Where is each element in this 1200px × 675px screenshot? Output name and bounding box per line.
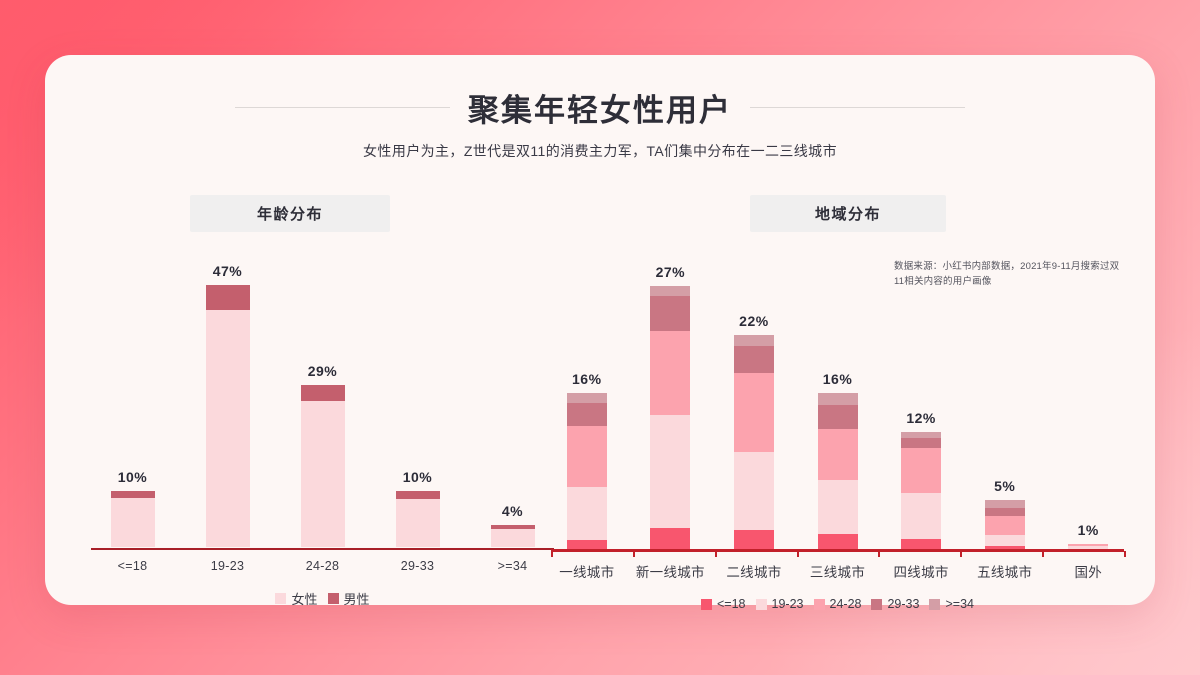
- bar-value-label: 5%: [994, 478, 1015, 494]
- stacked-bar[interactable]: [985, 500, 1025, 549]
- bar-slot: 47%: [180, 250, 275, 547]
- bar-segment-男性[interactable]: [111, 491, 155, 498]
- bar-segment-19-23[interactable]: [818, 480, 858, 535]
- region-bars: 16%27%22%16%12%5%1%: [545, 250, 1130, 549]
- bar-segment-19-23[interactable]: [650, 415, 690, 528]
- legend-label: 24-28: [830, 597, 862, 611]
- legend-swatch-icon: [328, 593, 339, 604]
- legend-item[interactable]: >=34: [929, 597, 974, 611]
- bar-segment-24-28[interactable]: [818, 429, 858, 480]
- bar-slot: 22%: [712, 250, 796, 549]
- bar-segment-19-23[interactable]: [567, 487, 607, 541]
- axis-tick: [878, 551, 880, 557]
- bar-value-label: 4%: [502, 503, 523, 519]
- x-axis-label: 二线城市: [712, 561, 796, 581]
- legend-label: 29-33: [887, 597, 919, 611]
- legend-item[interactable]: 男性: [328, 589, 370, 608]
- bar-value-label: 10%: [403, 469, 433, 485]
- legend-item[interactable]: 29-33: [871, 597, 919, 611]
- bar-value-label: 1%: [1078, 522, 1099, 538]
- legend-label: 女性: [291, 589, 317, 608]
- x-axis-label: 五线城市: [963, 561, 1047, 581]
- bar-value-label: 29%: [308, 363, 338, 379]
- legend-swatch-icon: [756, 599, 767, 610]
- age-legend: 女性男性: [85, 589, 560, 608]
- region-x-axis-labels: 一线城市新一线城市二线城市三线城市四线城市五线城市国外: [545, 561, 1130, 581]
- page-title: 聚集年轻女性用户: [468, 85, 732, 130]
- age-bars: 10%47%29%10%4%: [85, 250, 560, 547]
- x-axis-label: 新一线城市: [629, 561, 713, 581]
- region-distribution-title: 地域分布: [750, 195, 946, 232]
- title-rule-right: [750, 107, 965, 108]
- bar-segment-24-28[interactable]: [901, 448, 941, 493]
- bar-segment-29-33[interactable]: [985, 508, 1025, 516]
- bar-slot: 5%: [963, 250, 1047, 549]
- age-distribution-title: 年龄分布: [190, 195, 390, 232]
- legend-label: >=34: [945, 597, 974, 611]
- bar-segment-34[interactable]: [567, 393, 607, 403]
- bar-segment-女性[interactable]: [491, 529, 535, 547]
- region-legend: <=1819-2324-2829-33>=34: [545, 597, 1130, 611]
- legend-swatch-icon: [814, 599, 825, 610]
- stacked-bar[interactable]: [491, 525, 535, 547]
- page-subtitle: 女性用户为主，Z世代是双11的消费主力军，TA们集中分布在一二三线城市: [45, 141, 1155, 161]
- bar-segment-18[interactable]: [650, 528, 690, 549]
- bar-segment-18[interactable]: [901, 539, 941, 549]
- bar-slot: 10%: [370, 250, 465, 547]
- legend-label: 男性: [344, 589, 370, 608]
- bar-value-label: 16%: [572, 371, 602, 387]
- bar-segment-34[interactable]: [650, 286, 690, 296]
- region-axis-line: [551, 549, 1124, 552]
- bar-segment-24-28[interactable]: [567, 426, 607, 486]
- axis-tick: [633, 551, 635, 557]
- bar-segment-29-33[interactable]: [650, 296, 690, 331]
- bar-segment-19-23[interactable]: [985, 535, 1025, 546]
- bar-slot: 10%: [85, 250, 180, 547]
- bar-segment-34[interactable]: [985, 500, 1025, 508]
- bar-segment-男性[interactable]: [206, 285, 250, 310]
- bar-segment-29-33[interactable]: [734, 346, 774, 373]
- bar-segment-29-33[interactable]: [901, 438, 941, 448]
- region-distribution-chart: 数据来源：小红书内部数据，2021年9-11月搜索过双11相关内容的用户画像 1…: [545, 250, 1130, 552]
- bar-segment-24-28[interactable]: [734, 373, 774, 452]
- stacked-bar[interactable]: [818, 393, 858, 549]
- x-axis-label: 三线城市: [796, 561, 880, 581]
- bar-segment-19-23[interactable]: [734, 452, 774, 530]
- bar-slot: 1%: [1046, 250, 1130, 549]
- x-axis-label: 一线城市: [545, 561, 629, 581]
- x-axis-label: 四线城市: [879, 561, 963, 581]
- legend-label: 19-23: [772, 597, 804, 611]
- stacked-bar[interactable]: [301, 385, 345, 547]
- legend-item[interactable]: 女性: [275, 589, 317, 608]
- legend-swatch-icon: [929, 599, 940, 610]
- axis-tick: [715, 551, 717, 557]
- bar-segment-34[interactable]: [818, 393, 858, 405]
- x-axis-label: <=18: [85, 559, 180, 573]
- bar-slot: 27%: [629, 250, 713, 549]
- stacked-bar[interactable]: [206, 285, 250, 547]
- bar-segment-34[interactable]: [734, 335, 774, 346]
- x-axis-label: 29-33: [370, 559, 465, 573]
- legend-swatch-icon: [701, 599, 712, 610]
- title-row: 聚集年轻女性用户: [45, 85, 1155, 130]
- age-distribution-panel: 年龄分布 10%47%29%10%4% <=1819-2324-2829-33>…: [85, 195, 560, 608]
- legend-item[interactable]: 24-28: [814, 597, 862, 611]
- bar-segment-19-23[interactable]: [901, 493, 941, 540]
- bar-segment-女性[interactable]: [111, 498, 155, 547]
- axis-tick: [551, 551, 553, 557]
- bar-segment-女性[interactable]: [301, 401, 345, 547]
- region-distribution-panel: 地域分布 数据来源：小红书内部数据，2021年9-11月搜索过双11相关内容的用…: [545, 195, 1130, 611]
- legend-swatch-icon: [871, 599, 882, 610]
- legend-item[interactable]: 19-23: [756, 597, 804, 611]
- bar-segment-18[interactable]: [818, 534, 858, 549]
- x-axis-label: 国外: [1046, 561, 1130, 581]
- bar-value-label: 16%: [823, 371, 853, 387]
- age-axis-line: [91, 548, 554, 551]
- x-axis-label: 24-28: [275, 559, 370, 573]
- legend-item[interactable]: <=18: [701, 597, 746, 611]
- age-distribution-chart: 10%47%29%10%4%: [85, 250, 560, 550]
- stacked-bar[interactable]: [111, 491, 155, 547]
- bar-value-label: 12%: [906, 410, 936, 426]
- bar-segment-29-33[interactable]: [567, 403, 607, 426]
- bar-slot: 16%: [796, 250, 880, 549]
- bar-segment-男性[interactable]: [396, 491, 440, 499]
- title-rule-left: [235, 107, 450, 108]
- x-axis-label: 19-23: [180, 559, 275, 573]
- axis-tick: [1124, 551, 1126, 557]
- axis-tick: [797, 551, 799, 557]
- stacked-bar[interactable]: [901, 432, 941, 549]
- bar-segment-18[interactable]: [567, 540, 607, 549]
- bar-segment-18[interactable]: [734, 530, 774, 549]
- legend-label: <=18: [717, 597, 746, 611]
- bar-slot: 16%: [545, 250, 629, 549]
- bar-value-label: 27%: [656, 264, 686, 280]
- legend-swatch-icon: [275, 593, 286, 604]
- bar-segment-女性[interactable]: [206, 310, 250, 547]
- bar-value-label: 10%: [118, 469, 148, 485]
- bar-slot: 29%: [275, 250, 370, 547]
- bar-value-label: 47%: [213, 263, 243, 279]
- bar-segment-24-28[interactable]: [650, 331, 690, 415]
- age-x-axis-labels: <=1819-2324-2829-33>=34: [85, 559, 560, 573]
- bar-segment-24-28[interactable]: [985, 516, 1025, 535]
- bar-segment-男性[interactable]: [301, 385, 345, 401]
- axis-tick: [1042, 551, 1044, 557]
- stacked-bar[interactable]: [650, 286, 690, 549]
- bar-value-label: 22%: [739, 313, 769, 329]
- bar-segment-女性[interactable]: [396, 499, 440, 547]
- stacked-bar[interactable]: [567, 393, 607, 549]
- bar-segment-29-33[interactable]: [818, 405, 858, 429]
- axis-tick: [960, 551, 962, 557]
- stacked-bar[interactable]: [734, 335, 774, 549]
- main-card: 聚集年轻女性用户 女性用户为主，Z世代是双11的消费主力军，TA们集中分布在一二…: [45, 55, 1155, 605]
- bar-slot: 12%: [879, 250, 963, 549]
- stacked-bar[interactable]: [396, 491, 440, 547]
